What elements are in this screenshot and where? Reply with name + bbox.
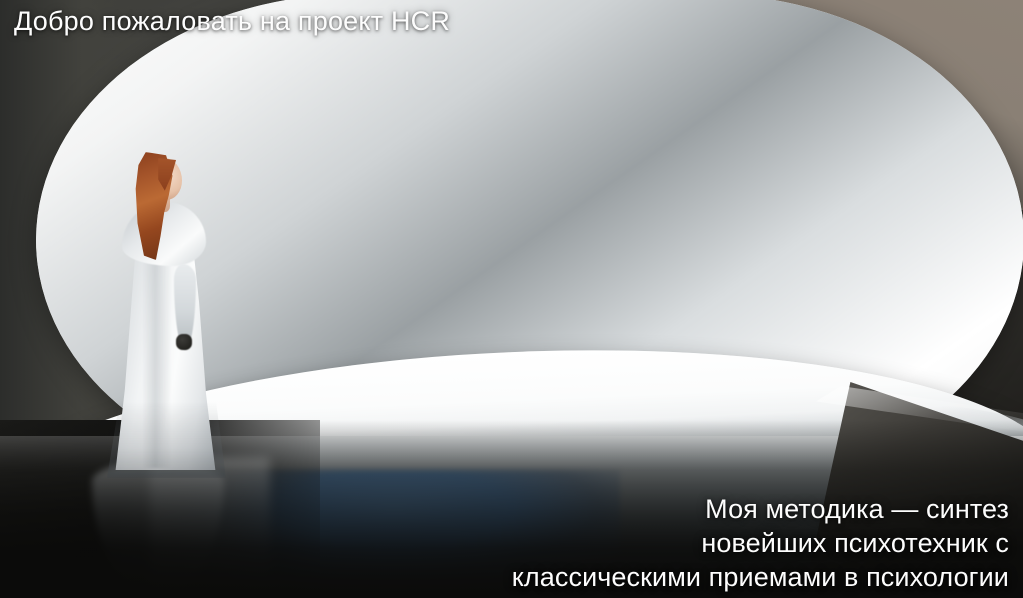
island-land: [571, 180, 607, 189]
island-land: [665, 167, 721, 180]
city-under-detail: [870, 170, 1004, 192]
flying-ship-large: [626, 302, 916, 328]
subtitle-block: Моя методика — синтез новейших психотехн…: [512, 492, 1009, 594]
island-disc: [654, 170, 732, 190]
island-disc: [588, 256, 660, 276]
city-disc: [848, 142, 1004, 180]
island-disc: [564, 182, 614, 196]
ship-body: [434, 82, 500, 96]
flying-ship-right: [914, 252, 1004, 260]
floating-island-small-6: [588, 256, 660, 310]
slide-canvas: Добро пожаловать на проект HCR Моя метод…: [0, 0, 1023, 598]
city-stem: [377, 159, 401, 197]
island-disc: [680, 216, 784, 244]
city-disc: [356, 151, 420, 163]
island-halo: [660, 196, 806, 266]
subtitle-line-2: новейших психотехник с: [512, 526, 1009, 560]
island-stem: [680, 184, 706, 228]
floating-island-main: [336, 244, 598, 394]
floating-city-small-mid: [356, 140, 420, 198]
subtitle-line-3: классическими приемами в психологии: [512, 560, 1009, 594]
city-spires: [365, 140, 411, 153]
island-stem: [735, 197, 750, 225]
island-stem: [714, 236, 750, 288]
island-stem: [612, 270, 636, 308]
city-disc: [180, 88, 242, 100]
cloud-puffs: [576, 132, 1004, 432]
ship-body: [626, 302, 916, 328]
cloud-bank-right: [656, 72, 1004, 402]
city-stem: [279, 208, 307, 248]
island-land: [360, 238, 572, 286]
woman-hand-object: [176, 334, 192, 350]
woman-skirt-shadow: [102, 402, 226, 478]
island-land: [726, 186, 758, 194]
city-spires: [264, 184, 320, 200]
city-spires: [188, 76, 232, 90]
page-title: Добро пожаловать на проект HCR: [14, 4, 450, 38]
woman-figure: [96, 152, 228, 470]
floating-island-small-3: [654, 170, 732, 232]
city-rim-detail: [850, 144, 1004, 156]
floating-city-large: [848, 108, 1004, 266]
floating-island-small-2: [564, 182, 614, 228]
floating-island-small-5: [680, 216, 784, 290]
city-stem: [200, 96, 224, 130]
island-stem: [422, 300, 512, 396]
floating-city-small-left: [252, 184, 332, 246]
column-reflection: [150, 458, 270, 598]
island-halo: [638, 152, 748, 210]
island-peaks: [392, 228, 542, 258]
ship-windows: [643, 311, 898, 315]
wall-warm-highlight: [560, 0, 1023, 210]
city-halo: [808, 78, 1004, 228]
city-stem: [910, 174, 1004, 278]
island-land: [695, 212, 769, 230]
right-wall-highlight: [816, 386, 1023, 456]
island-disc: [720, 188, 764, 200]
flying-ship-top: [434, 82, 500, 96]
woman-reflection: [92, 462, 224, 598]
ship-body: [300, 184, 394, 200]
floating-island-small-4: [720, 188, 764, 226]
flying-ship-left: [300, 184, 394, 200]
ship-body: [914, 252, 1004, 260]
city-towers: [862, 96, 1004, 152]
island-land: [598, 253, 650, 266]
city-disc: [252, 198, 332, 213]
island-halo: [552, 168, 626, 212]
island-halo: [314, 210, 620, 360]
subtitle-line-1: Моя методика — синтез: [512, 492, 1009, 526]
island-disc: [336, 244, 598, 318]
floating-city-small-topleft: [180, 76, 242, 130]
island-stem: [581, 192, 598, 226]
ship-windows: [306, 189, 389, 192]
